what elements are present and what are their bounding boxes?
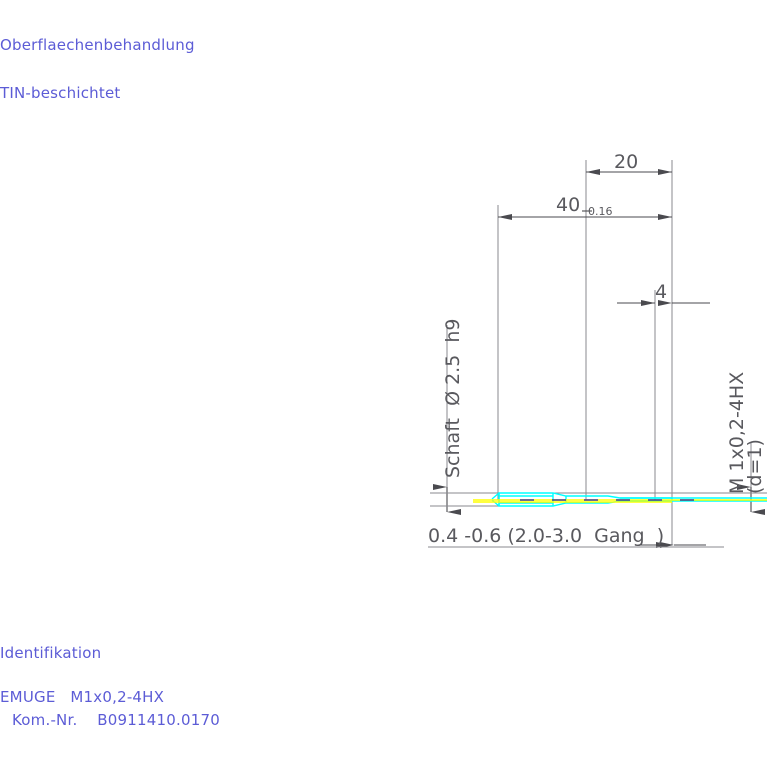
technical-drawing-canvas bbox=[0, 0, 767, 767]
dimension-label-thread-pitch-diameter: (d=1) bbox=[746, 439, 765, 494]
dimension-lines bbox=[447, 172, 751, 545]
dimension-tolerance-40: 0.16 bbox=[588, 206, 613, 217]
dimension-value-4: 4 bbox=[655, 283, 667, 302]
part-geometry bbox=[473, 493, 767, 506]
dimension-value-20: 20 bbox=[614, 153, 638, 172]
dimension-value-40: 40 bbox=[556, 196, 580, 215]
dimension-label-chamfer-note: 0.4 -0.6 (2.0-3.0 Gang ) bbox=[428, 527, 664, 546]
dimension-label-shank-spec: Schaft Ø 2.5 h9 bbox=[444, 319, 463, 479]
